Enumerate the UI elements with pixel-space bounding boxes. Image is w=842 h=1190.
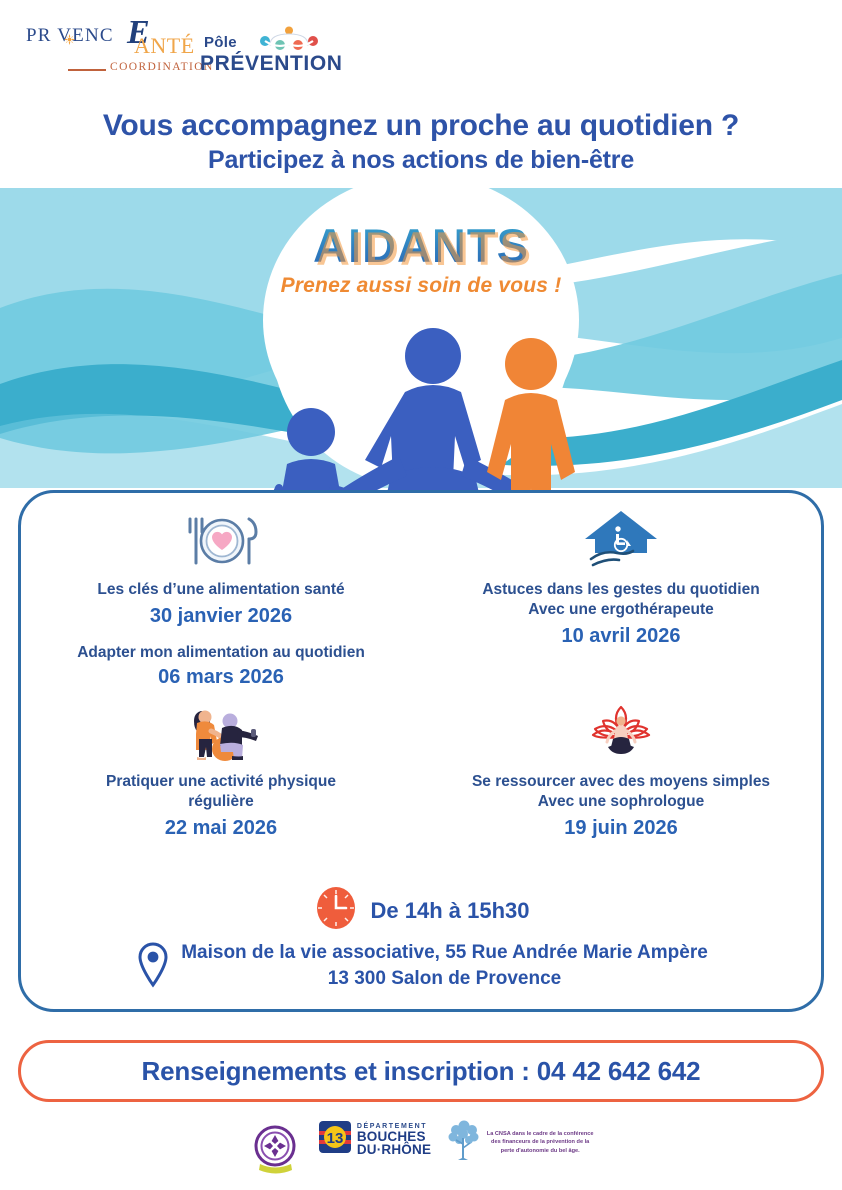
- event-title: Astuces dans les gestes du quotidien: [482, 580, 759, 600]
- event-date: 30 janvier 2026: [150, 605, 292, 628]
- svg-text:13: 13: [326, 1130, 343, 1147]
- schedule-time: De 14h à 15h30: [371, 898, 530, 924]
- logo-provence-sante-coordination: PR VENC E ANTÉ: [24, 12, 184, 78]
- prevention-word-label: PRÉVENTION: [200, 52, 343, 76]
- event-cell-nutrition: Les clés d’une alimentation santé 30 jan…: [21, 503, 421, 689]
- logo-pole-prevention: Pôle PRÉVENTION: [200, 24, 330, 82]
- logo-sante-word: ANTÉ: [134, 33, 195, 59]
- event-subtitle: Avec une ergothérapeute: [528, 600, 713, 620]
- place-row: Maison de la vie associative, 55 Rue And…: [21, 940, 821, 995]
- headline-line-1: Vous accompagnez un proche au quotidien …: [0, 108, 842, 143]
- dept-wordmark: DÉPARTEMENT BOUCHES DU·RHÔNE: [357, 1123, 431, 1157]
- sun-star-icon: [64, 32, 75, 43]
- event-cell-ergotherapie: Astuces dans les gestes du quotidien Ave…: [421, 503, 821, 689]
- schedule-address: Maison de la vie associative, 55 Rue And…: [181, 940, 708, 991]
- clock-icon: [313, 885, 359, 936]
- dept-13-shield-icon: 13: [318, 1120, 352, 1159]
- lotus-meditation-icon: [575, 701, 667, 763]
- contact-phone-text: Renseignements et inscription : 04 42 64…: [142, 1056, 701, 1087]
- dept-line-1: BOUCHES: [357, 1130, 431, 1144]
- headline-line-2: Participez à nos actions de bien-être: [0, 146, 842, 175]
- plate-heart-cutlery-icon: [177, 509, 265, 571]
- cnsa-funding-note: La CNSA dans le cadre de la conférence d…: [484, 1130, 596, 1156]
- time-row: De 14h à 15h30: [21, 885, 821, 936]
- physical-activity-coach-icon: [175, 701, 267, 763]
- dept-line-2: DU·RHÔNE: [357, 1143, 431, 1157]
- hero-wave-banner: AIDANTS Prenez aussi soin de vous !: [0, 188, 842, 488]
- event-subtitle: régulière: [188, 792, 253, 812]
- schedule-block: De 14h à 15h30 Maison de la vie associat…: [21, 885, 821, 995]
- logo-coordination-word: COORDINATION: [110, 61, 214, 73]
- house-wheelchair-hand-icon: [583, 509, 659, 571]
- events-grid: Les clés d’une alimentation santé 30 jan…: [21, 503, 821, 840]
- event-title: Les clés d’une alimentation santé: [97, 580, 344, 600]
- cnsa-logo-block: La CNSA dans le cadre de la conférence d…: [445, 1120, 596, 1165]
- event-cell-activite-physique: Pratiquer une activité physique régulièr…: [21, 695, 421, 840]
- event-date-secondary: 06 mars 2026: [158, 666, 284, 689]
- ccas-purple-emblem-icon: [246, 1120, 304, 1178]
- pole-word-label: Pôle: [204, 34, 237, 51]
- event-date: 19 juin 2026: [564, 817, 677, 840]
- event-title: Se ressourcer avec des moyens simples: [472, 772, 770, 792]
- event-title-secondary: Adapter mon alimentation au quotidien: [77, 644, 365, 662]
- logo-divider-rule: [68, 69, 106, 71]
- contact-banner[interactable]: Renseignements et inscription : 04 42 64…: [18, 1040, 824, 1102]
- address-line-1: Maison de la vie associative, 55 Rue And…: [181, 942, 708, 963]
- event-cell-sophrologie: Se ressourcer avec des moyens simples Av…: [421, 695, 821, 840]
- location-pin-icon: [134, 940, 172, 995]
- address-line-2: 13 300 Salon de Provence: [181, 966, 708, 992]
- event-subtitle: Avec une sophrologue: [538, 792, 705, 812]
- header-logo-bar: PR VENC E ANTÉ: [24, 12, 330, 84]
- departement-bouches-du-rhone-logo: 13 DÉPARTEMENT BOUCHES DU·RHÔNE: [318, 1120, 431, 1159]
- poster-root: PR VENC E ANTÉ: [0, 0, 842, 1190]
- event-date: 22 mai 2026: [165, 817, 277, 840]
- page-headline: Vous accompagnez un proche au quotidien …: [0, 108, 842, 175]
- cnsa-tree-icon: [445, 1120, 481, 1165]
- events-card: Les clés d’une alimentation santé 30 jan…: [18, 490, 824, 1012]
- event-date: 10 avril 2026: [562, 625, 681, 648]
- footer-partner-logos: 13 DÉPARTEMENT BOUCHES DU·RHÔNE: [0, 1120, 842, 1186]
- wave-background-graphic: [0, 188, 842, 488]
- event-title: Pratiquer une activité physique: [106, 772, 336, 792]
